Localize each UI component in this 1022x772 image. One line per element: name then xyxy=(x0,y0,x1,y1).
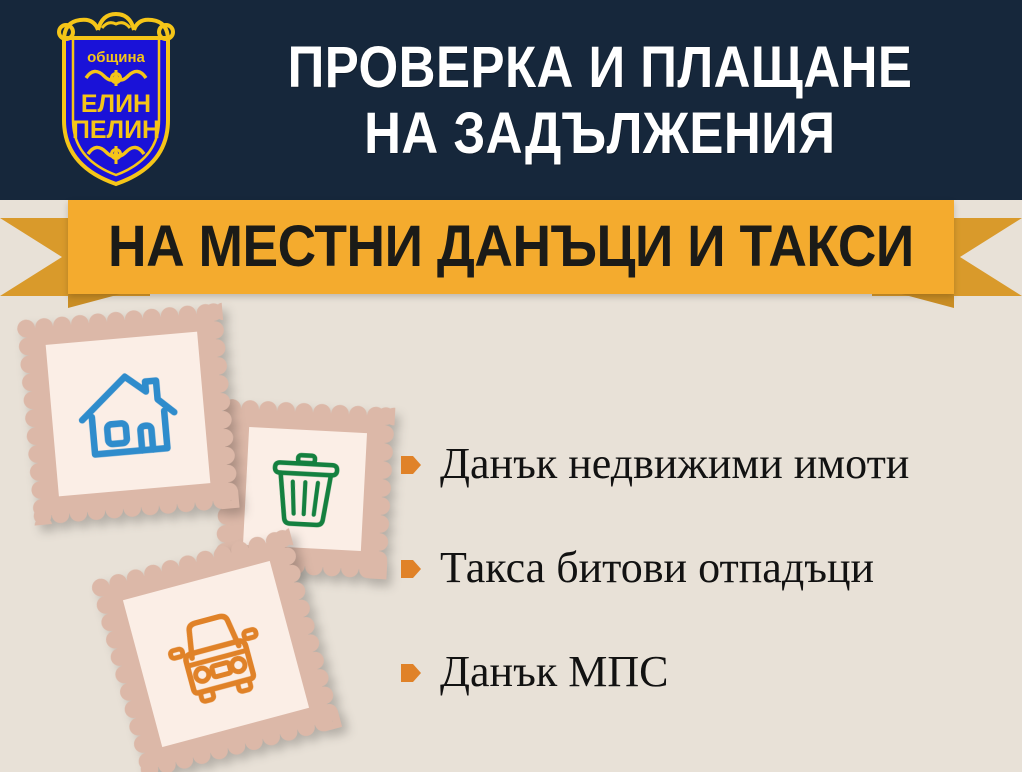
pentagon-arrow-bullet-icon xyxy=(400,557,422,581)
stamp-card-property xyxy=(26,312,230,516)
coat-of-arms-shield-icon: община ЕЛИН ПЕЛИН xyxy=(42,8,190,188)
house-icon xyxy=(68,354,187,473)
ribbon-label: НА МЕСТНИ ДАНЪЦИ И ТАКСИ xyxy=(108,217,914,277)
stamp-paper xyxy=(123,561,309,747)
title-line-1: ПРОВЕРКА И ПЛАЩАНЕ xyxy=(288,35,913,101)
list-item-label: Такса битови отпадъци xyxy=(440,544,874,592)
list-item-label: Данък недвижими имоти xyxy=(440,440,909,488)
list-item[interactable]: Такса битови отпадъци xyxy=(400,516,1010,620)
list-item[interactable]: Данък МПС xyxy=(400,620,1010,724)
header-banner: община ЕЛИН ПЕЛИН ПРОВЕРКА И ПЛАЩАНЕ НА … xyxy=(0,0,1022,200)
stamp-paper xyxy=(243,427,367,551)
subtitle-ribbon: НА МЕСТНИ ДАНЪЦИ И ТАКСИ xyxy=(0,196,1022,306)
svg-text:община: община xyxy=(87,49,145,66)
ribbon-fold-left xyxy=(68,292,128,308)
ribbon-body: НА МЕСТНИ ДАНЪЦИ И ТАКСИ xyxy=(68,200,954,294)
municipality-logo: община ЕЛИН ПЕЛИН xyxy=(42,8,190,188)
title-line-2: НА ЗАДЪЛЖЕНИЯ xyxy=(364,101,835,167)
tax-types-list: Данък недвижими имоти Такса битови отпад… xyxy=(400,412,1010,724)
trash-bin-icon xyxy=(261,445,349,533)
list-item-label: Данък МПС xyxy=(440,648,668,696)
svg-text:ЕЛИН: ЕЛИН xyxy=(81,90,151,118)
stamp-card-vehicle xyxy=(101,539,331,769)
pentagon-arrow-bullet-icon xyxy=(400,453,422,477)
poster-canvas: община ЕЛИН ПЕЛИН ПРОВЕРКА И ПЛАЩАНЕ НА … xyxy=(0,0,1022,772)
ribbon-fold-right xyxy=(894,292,954,308)
svg-text:ПЕЛИН: ПЕЛИН xyxy=(72,116,160,144)
car-icon xyxy=(149,587,284,722)
list-item[interactable]: Данък недвижими имоти xyxy=(400,412,1010,516)
stamp-edge-right xyxy=(368,407,395,580)
stamp-paper xyxy=(46,332,211,497)
pentagon-arrow-bullet-icon xyxy=(400,661,422,685)
page-title: ПРОВЕРКА И ПЛАЩАНЕ НА ЗАДЪЛЖЕНИЯ xyxy=(190,18,1010,184)
